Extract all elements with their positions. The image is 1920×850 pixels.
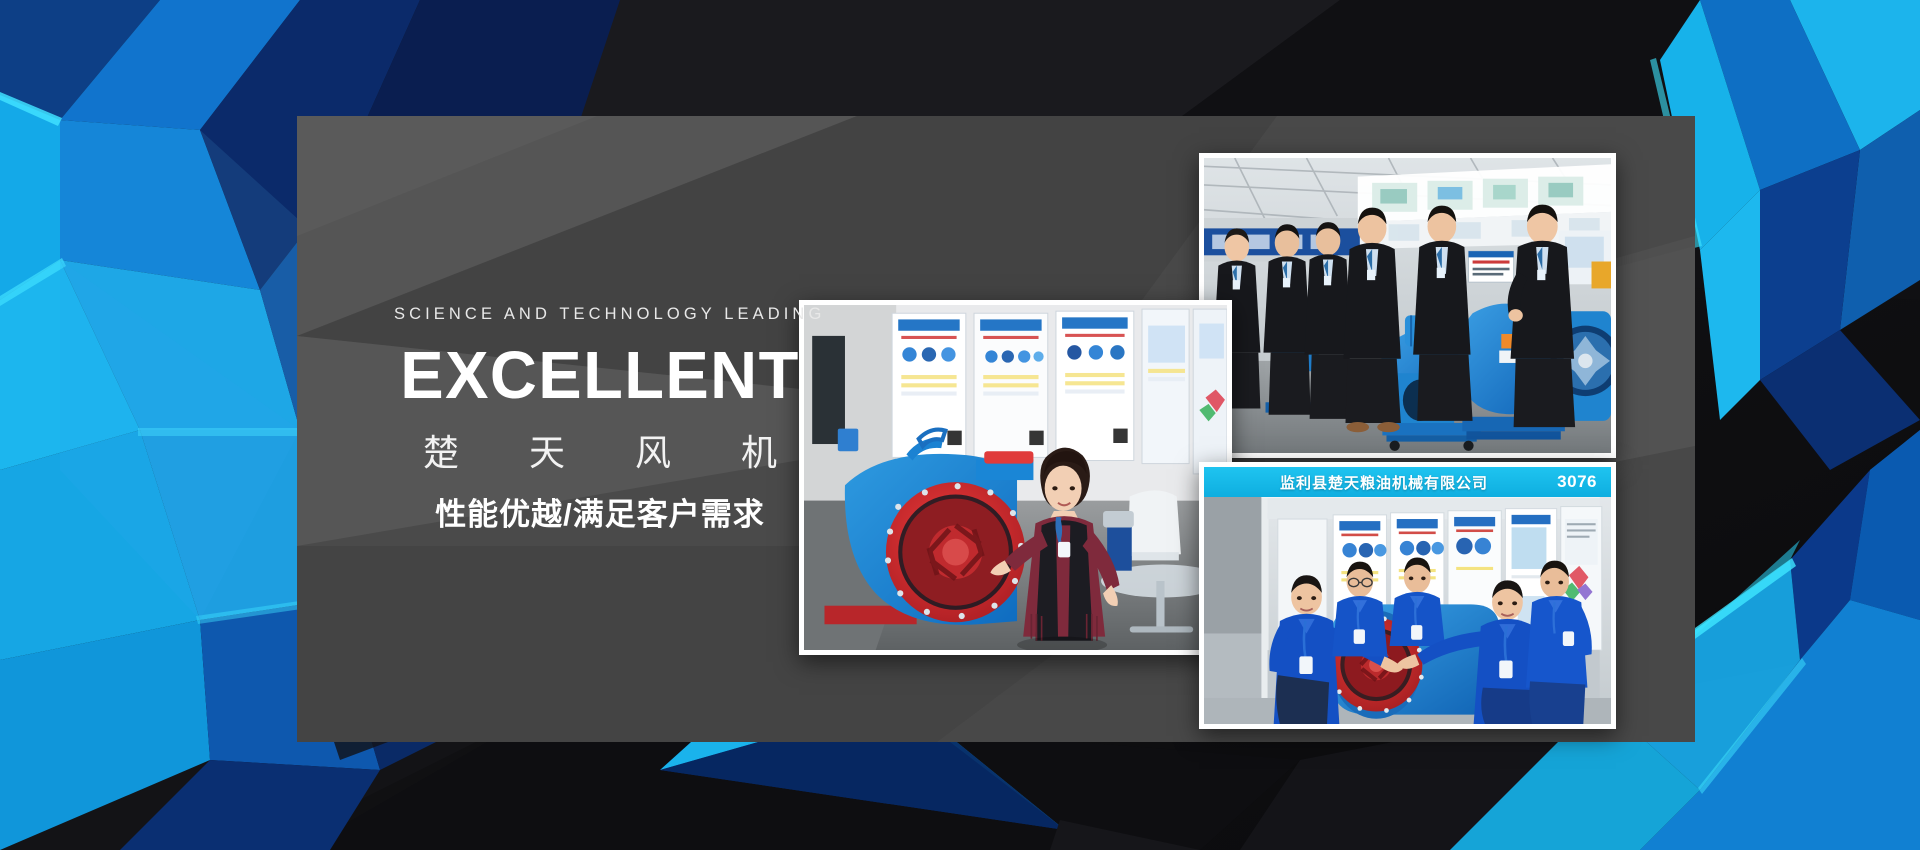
presenter-photo-art: [804, 305, 1227, 650]
wordmark-excellent: EXCELLENT: [396, 342, 803, 409]
headline-block: SCIENCE AND TECHNOLOGY LEADING EXCELLENT…: [390, 305, 810, 530]
booth-number: 3076: [1557, 472, 1597, 492]
eyebrow-tagline: SCIENCE AND TECHNOLOGY LEADING: [390, 305, 810, 324]
company-name-chinese: 楚 天 风 机: [390, 435, 810, 471]
booth-banner-strip: 监利县楚天粮油机械有限公司 3076: [1204, 467, 1611, 497]
polos-team-photo-art: [1204, 467, 1611, 724]
tagline-chinese: 性能优越/满足客户需求: [390, 499, 810, 530]
exhibition-team-suits-photo: [1199, 153, 1616, 458]
exhibition-booth-presenter-photo: [799, 300, 1232, 655]
booth-banner-title: 监利县楚天粮油机械有限公司: [1280, 472, 1488, 493]
exhibition-team-polos-photo: 监利县楚天粮油机械有限公司 3076: [1199, 462, 1616, 729]
promotional-banner: SCIENCE AND TECHNOLOGY LEADING EXCELLENT…: [0, 0, 1920, 850]
suits-team-photo-art: [1204, 158, 1611, 453]
